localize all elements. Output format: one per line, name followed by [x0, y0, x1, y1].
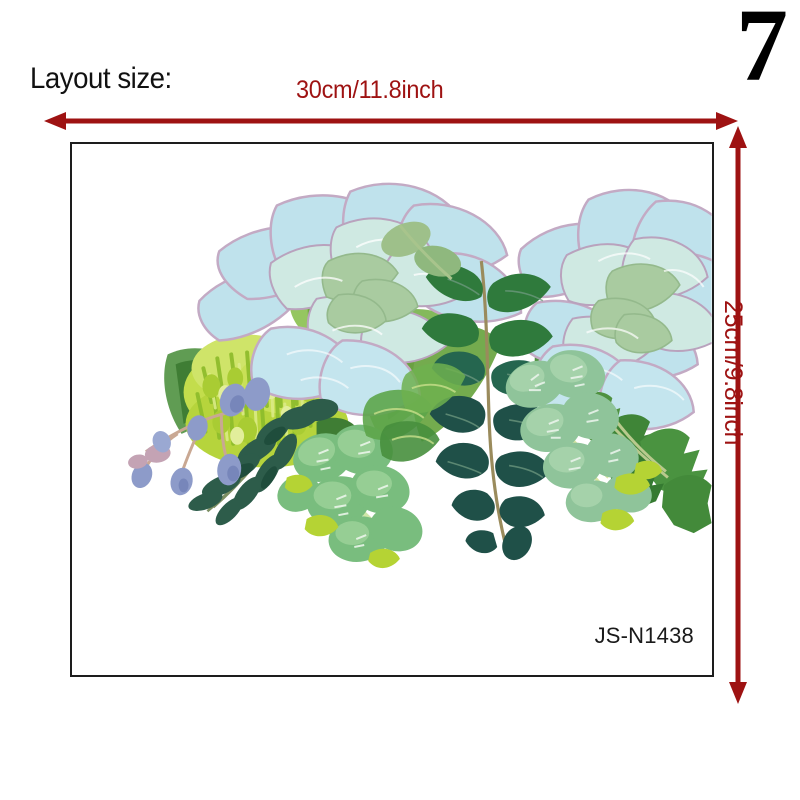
width-arrow-icon	[44, 112, 738, 130]
height-arrow-icon	[729, 126, 747, 704]
product-dimension-card: 7 Layout size: 30cm/11.8inch 25cm/9.8inc…	[0, 0, 800, 800]
layout-size-label: Layout size:	[30, 62, 172, 96]
product-code-label: JS-N1438	[595, 623, 694, 649]
artwork-frame: JS-N1438	[70, 142, 714, 677]
index-number: 7	[736, 0, 786, 98]
floral-artwork	[72, 144, 712, 675]
width-dimension-label: 30cm/11.8inch	[296, 76, 443, 105]
